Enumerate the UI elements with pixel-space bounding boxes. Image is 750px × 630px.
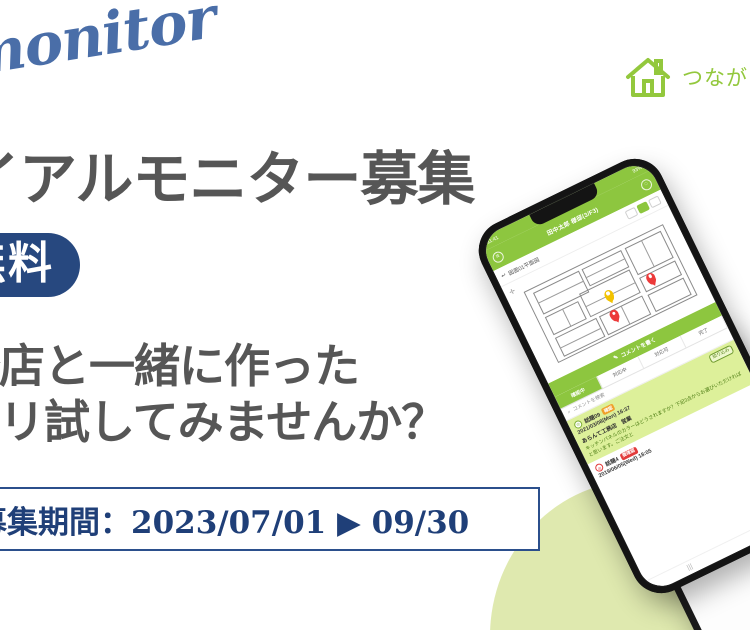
subheading-line-2: プリ試してみませんか？ [0,394,446,450]
pencil-icon: ✎ [613,355,620,362]
back-icon[interactable]: ↩ [500,272,507,279]
application-period-box: 募集期間：2023/07/01 ▶ 09/30 [0,487,540,551]
brand-logo-text: つながる [682,62,750,92]
map-view-chip[interactable] [636,201,650,214]
brand-logo[interactable]: つながる [624,55,750,99]
grid-view-chip[interactable] [648,195,662,208]
page-title: イアルモニター募集 [0,150,474,208]
search-icon: ⌕ [567,409,572,416]
subheading-line-1: 務店と一緒に作った [0,338,446,394]
subheading: 務店と一緒に作った プリ試してみませんか？ [0,338,446,450]
script-word-monitor: monitor [0,0,220,90]
house-icon [624,55,672,99]
status-battery: 93% [631,164,643,174]
recents-icon[interactable]: ||| [686,563,694,572]
phone-back-navbar[interactable]: ||| ○ [717,593,750,630]
free-badge: 無料 [0,233,80,297]
script-logotype: monitor [0,22,223,90]
hamburger-icon[interactable]: ≡ [491,249,506,264]
list-view-chip[interactable] [625,207,639,220]
application-period-text: 募集期間：2023/07/01 ▶ 09/30 [0,497,469,542]
campaign-banner: monitor つながる イアルモニター募集 無料 務店と一緒に作った プリ試し… [0,0,750,630]
account-icon[interactable]: ◌ [639,177,654,192]
